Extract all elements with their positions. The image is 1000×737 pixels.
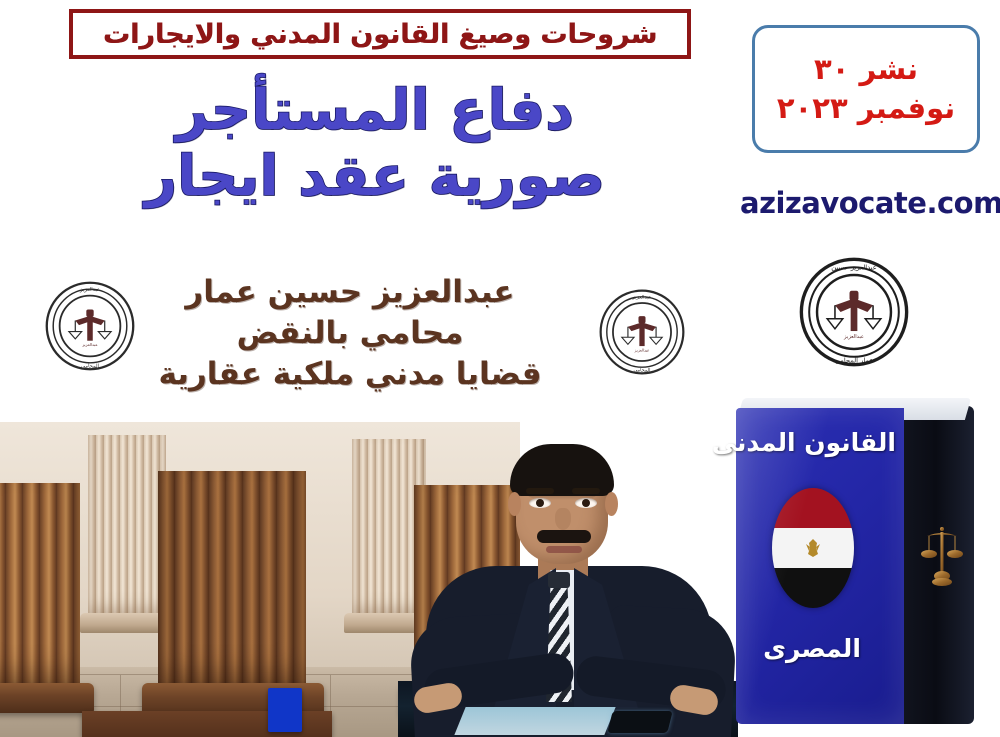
flag-stripe-black [772, 568, 854, 608]
egypt-flag-icon [772, 488, 854, 608]
poster-canvas: شروحات وصيغ القانون المدني والايجارات نش… [0, 0, 1000, 737]
svg-text:المحامي: المحامي [81, 363, 99, 369]
scales-of-justice-icon [921, 526, 963, 588]
mobile-phone [607, 711, 672, 733]
svg-text:عبدالعزيز: عبدالعزيز [81, 342, 98, 347]
bar-association-seal-icon: عبدالعزيز حسين عمار المحامي عبدالعزيز [798, 256, 910, 368]
tie-knot [548, 572, 570, 588]
flag-stripe-red [772, 488, 854, 528]
foreground-column-base [0, 683, 94, 713]
lawyer-credentials: عبدالعزيز حسين عمار محامي بالنقض قضايا م… [150, 272, 550, 396]
nose [555, 508, 571, 530]
blue-desk-object [268, 688, 302, 732]
civil-code-book: القانون المدنى المصرى [728, 398, 978, 728]
header-banner-text: شروحات وصيغ القانون المدني والايجارات [103, 19, 657, 50]
lawyer-title: محامي بالنقض [150, 313, 550, 354]
main-title: دفاع المستأجر صورية عقد ايجار [140, 78, 610, 210]
svg-text:المحامي: المحامي [633, 368, 650, 374]
publish-date-line-1: نشر ٣٠ [814, 50, 918, 89]
svg-text:عبدالعزيز: عبدالعزيز [632, 295, 652, 301]
eagle-of-saladin-icon [800, 538, 826, 558]
ear-left [508, 492, 521, 516]
bar-association-seal-icon: عبدالعزيز المحامي عبدالعزيز [44, 280, 136, 372]
ear-right [605, 492, 618, 516]
website-url[interactable]: azizavocate.com [740, 186, 990, 220]
desk-papers [454, 707, 615, 735]
svg-text:عبدالعزيز: عبدالعزيز [634, 347, 650, 352]
moustache [537, 530, 591, 543]
eye-right [575, 498, 597, 508]
background-column [88, 435, 166, 617]
svg-text:عبدالعزيز حسين: عبدالعزيز حسين [831, 263, 876, 271]
lawyer-portrait-photo [398, 430, 738, 737]
header-banner: شروحات وصيغ القانون المدني والايجارات [70, 10, 690, 58]
main-title-line-2: صورية عقد ايجار [140, 144, 610, 210]
svg-text:عمار المحامي: عمار المحامي [835, 356, 874, 364]
eye-left [529, 498, 551, 508]
book-title-bottom: المصرى [728, 634, 896, 663]
publish-date-line-2: نوفمبر ٢٠٢٣ [777, 89, 955, 128]
svg-text:عبدالعزيز: عبدالعزيز [79, 287, 100, 293]
svg-text:عبدالعزيز: عبدالعزيز [843, 334, 864, 340]
foreground-column [158, 471, 306, 691]
foreground-column [0, 483, 80, 691]
main-title-line-1: دفاع المستأجر [140, 78, 610, 144]
bar-association-seal-icon: عبدالعزيز المحامي عبدالعزيز [598, 288, 686, 376]
mouth [546, 546, 582, 553]
book-title-top: القانون المدنى [728, 428, 896, 457]
lawyer-name: عبدالعزيز حسين عمار [150, 272, 550, 313]
eyebrow-left [526, 488, 554, 494]
lawyer-specialty: قضايا مدني ملكية عقارية [150, 354, 550, 395]
eyebrow-right [572, 488, 600, 494]
publish-date-box: نشر ٣٠ نوفمبر ٢٠٢٣ [752, 25, 980, 153]
